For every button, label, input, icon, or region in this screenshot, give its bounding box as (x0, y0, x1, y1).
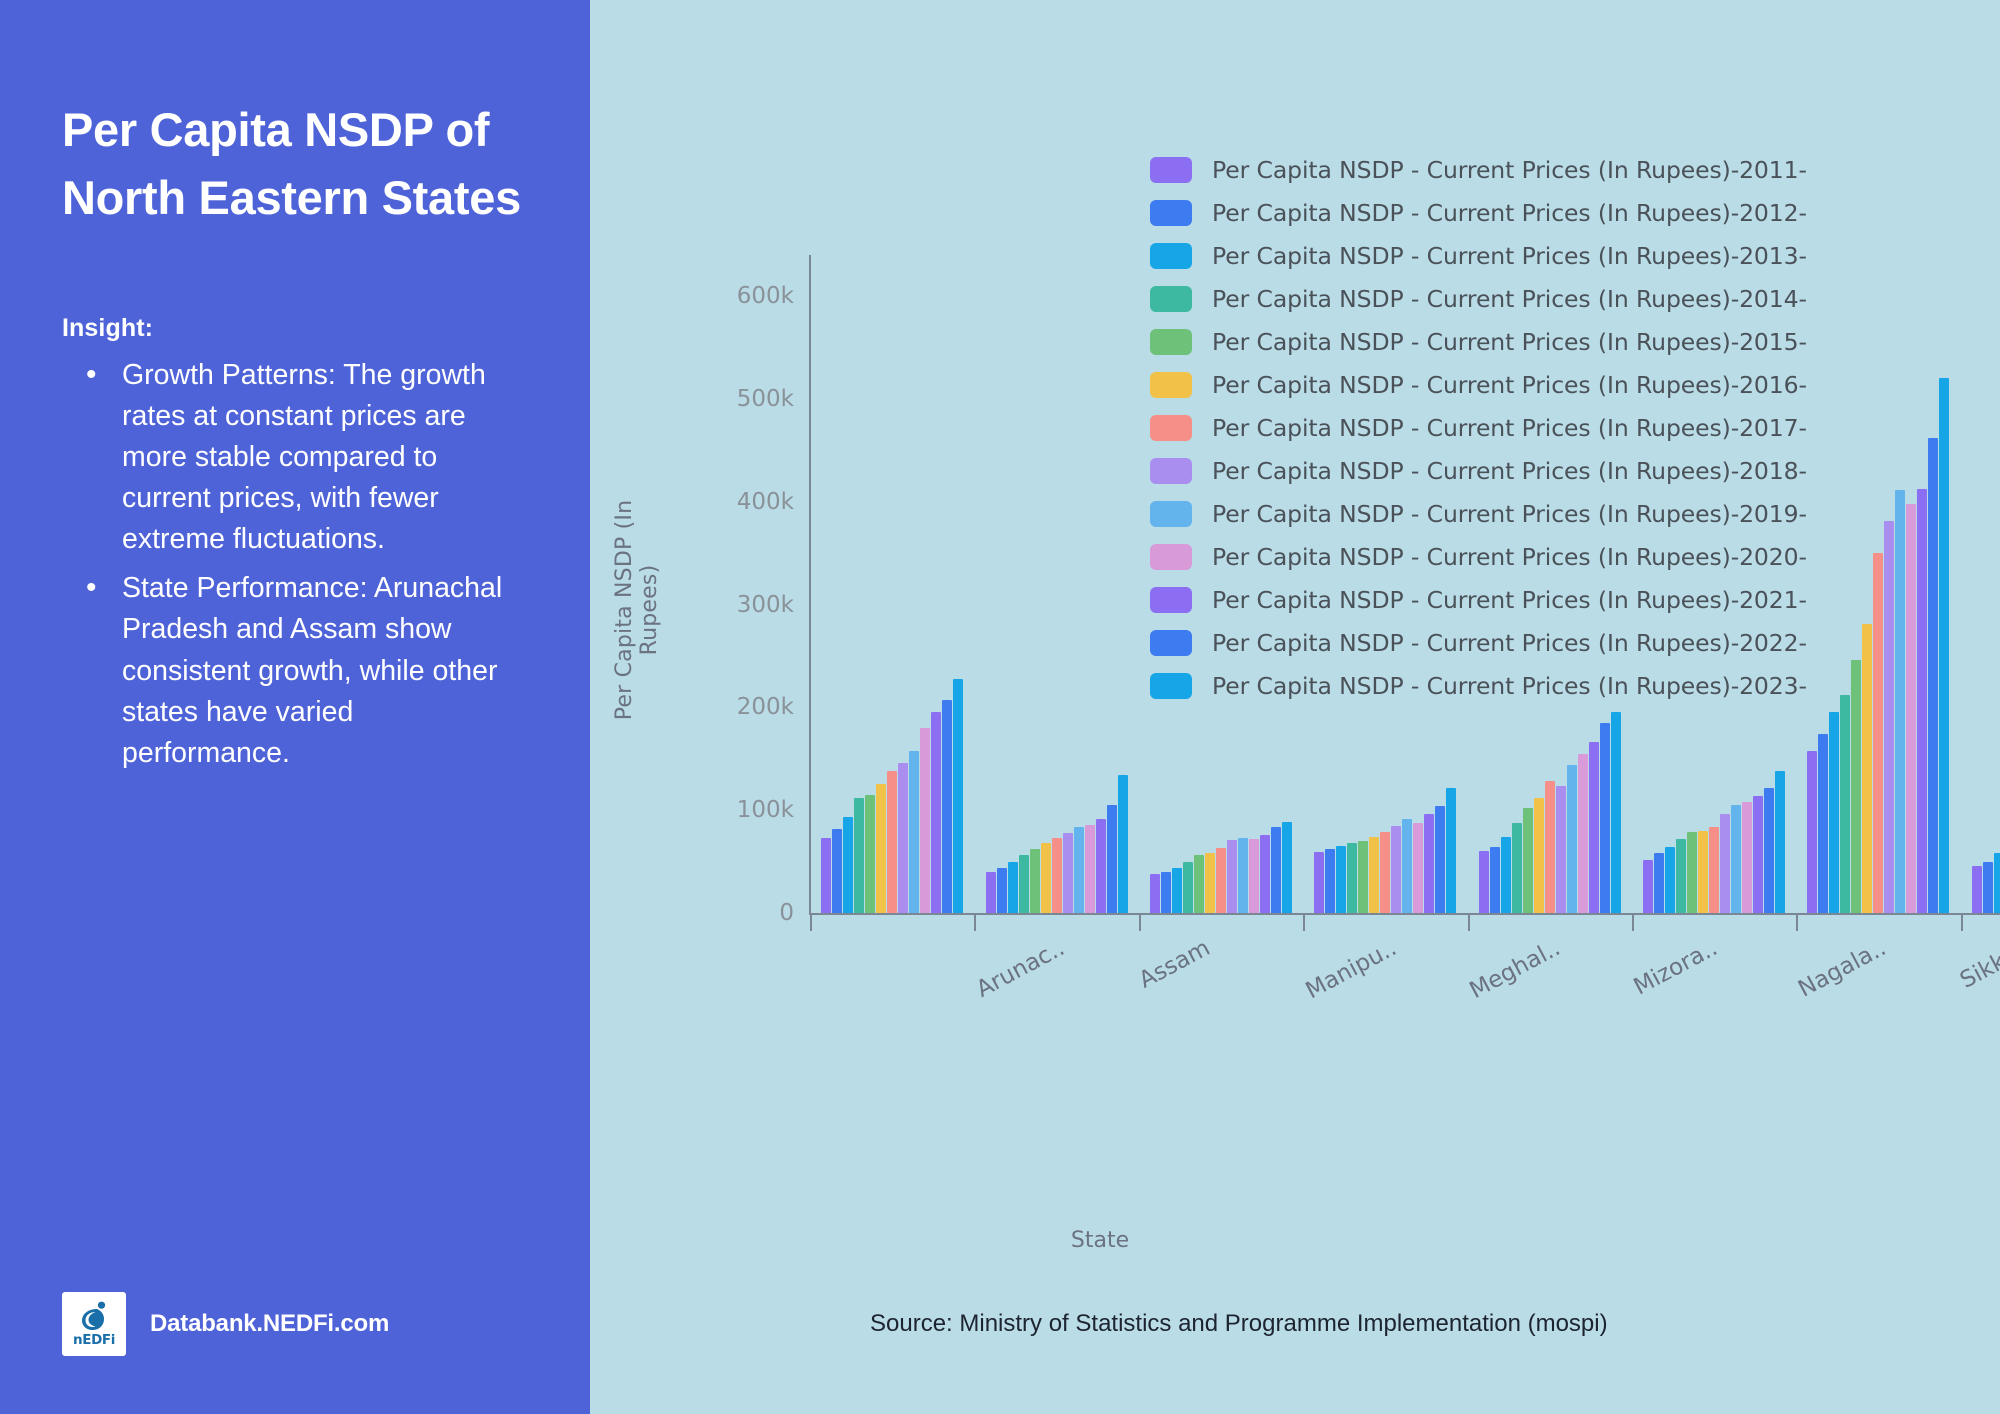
legend-label: Per Capita NSDP - Current Prices (In Rup… (1212, 629, 1807, 657)
bar[interactable] (1578, 754, 1588, 913)
y-tick-label: 100k (737, 797, 794, 823)
legend-item[interactable]: Per Capita NSDP - Current Prices (In Rup… (1150, 191, 1807, 234)
bar[interactable] (1150, 874, 1160, 913)
bar[interactable] (1643, 860, 1653, 913)
bar[interactable] (1118, 775, 1128, 913)
legend-item[interactable]: Per Capita NSDP - Current Prices (In Rup… (1150, 578, 1807, 621)
bar[interactable] (1512, 823, 1522, 913)
bar[interactable] (1567, 765, 1577, 913)
legend-label: Per Capita NSDP - Current Prices (In Rup… (1212, 285, 1807, 313)
bar[interactable] (1096, 819, 1106, 913)
bar[interactable] (1665, 847, 1675, 913)
bar[interactable] (1709, 827, 1719, 913)
bar[interactable] (1435, 806, 1445, 913)
legend-item[interactable]: Per Capita NSDP - Current Prices (In Rup… (1150, 148, 1807, 191)
bar[interactable] (1391, 826, 1401, 913)
bar[interactable] (1369, 837, 1379, 913)
legend-item[interactable]: Per Capita NSDP - Current Prices (In Rup… (1150, 320, 1807, 363)
bar[interactable] (1775, 771, 1785, 913)
legend-item[interactable]: Per Capita NSDP - Current Prices (In Rup… (1150, 664, 1807, 707)
bar[interactable] (986, 872, 996, 913)
bar[interactable] (1238, 838, 1248, 913)
bar[interactable] (1654, 853, 1664, 913)
bar[interactable] (1194, 855, 1204, 913)
bar-chart: Per Capita NSDP (In Rupees) State 0100k2… (590, 0, 2000, 1414)
bar[interactable] (1347, 843, 1357, 913)
bar[interactable] (1829, 712, 1839, 914)
bar[interactable] (1490, 847, 1500, 913)
x-tick-mark (1139, 913, 1141, 931)
legend-label: Per Capita NSDP - Current Prices (In Rup… (1212, 414, 1807, 442)
x-tick-label: Sikkim (1956, 935, 2000, 994)
y-tick-label: 400k (737, 489, 794, 515)
nedfi-logo: nEDFi (62, 1292, 126, 1356)
chart-legend: Per Capita NSDP - Current Prices (In Rup… (1150, 148, 1807, 707)
legend-swatch (1150, 501, 1192, 527)
bar[interactable] (1205, 853, 1215, 913)
bar[interactable] (1019, 855, 1029, 913)
bar[interactable] (1807, 751, 1817, 913)
bar[interactable] (1895, 490, 1905, 913)
bar[interactable] (865, 795, 875, 913)
bar[interactable] (821, 838, 831, 913)
bar[interactable] (1501, 837, 1511, 913)
bar[interactable] (1402, 819, 1412, 913)
x-tick-label: Manipu.. (1302, 935, 1401, 1004)
page-title: Per Capita NSDP of North Eastern States (62, 96, 532, 232)
list-item: Growth Patterns: The growth rates at con… (62, 355, 512, 560)
chart-panel: Per Capita NSDP (In Rupees) State 0100k2… (590, 0, 2000, 1414)
bar[interactable] (1687, 832, 1697, 913)
x-tick-mark (1632, 913, 1634, 931)
x-axis-title: State (970, 1228, 1230, 1253)
infographic-page: Per Capita NSDP of North Eastern States … (0, 0, 2000, 1414)
bar[interactable] (1556, 786, 1566, 913)
x-axis-line (809, 913, 2000, 915)
bar[interactable] (1085, 825, 1095, 913)
legend-label: Per Capita NSDP - Current Prices (In Rup… (1212, 500, 1807, 528)
bar[interactable] (1183, 862, 1193, 913)
bar[interactable] (843, 817, 853, 913)
legend-label: Per Capita NSDP - Current Prices (In Rup… (1212, 371, 1807, 399)
bar[interactable] (931, 712, 941, 914)
y-tick-label: 0 (779, 900, 794, 926)
x-tick-mark (810, 913, 812, 931)
bar[interactable] (1600, 723, 1610, 913)
legend-swatch (1150, 329, 1192, 355)
bar[interactable] (1873, 553, 1883, 913)
x-tick-label: Arunac.. (972, 935, 1069, 1003)
x-tick-label: Mizora.. (1629, 935, 1721, 1000)
source-note: Source: Ministry of Statistics and Progr… (870, 1310, 1608, 1338)
bar[interactable] (1052, 838, 1062, 913)
bar[interactable] (1972, 866, 1982, 913)
x-tick-mark (1796, 913, 1798, 931)
bar[interactable] (1336, 846, 1346, 913)
bar-cluster (810, 255, 974, 913)
bar[interactable] (1884, 521, 1894, 913)
bar[interactable] (1840, 695, 1850, 913)
bar[interactable] (953, 679, 963, 913)
legend-item[interactable]: Per Capita NSDP - Current Prices (In Rup… (1150, 277, 1807, 320)
legend-label: Per Capita NSDP - Current Prices (In Rup… (1212, 457, 1807, 485)
x-tick-label: Assam (1135, 935, 1214, 994)
legend-item[interactable]: Per Capita NSDP - Current Prices (In Rup… (1150, 363, 1807, 406)
y-tick-label: 200k (737, 694, 794, 720)
databank-url[interactable]: Databank.NEDFi.com (150, 1310, 389, 1338)
bar[interactable] (1041, 843, 1051, 913)
y-tick-label: 600k (737, 283, 794, 309)
legend-swatch (1150, 372, 1192, 398)
bar[interactable] (1424, 814, 1434, 913)
bar-cluster (1961, 255, 2000, 913)
bar[interactable] (1446, 788, 1456, 913)
bar[interactable] (832, 829, 842, 913)
bar[interactable] (997, 868, 1007, 913)
bar[interactable] (920, 728, 930, 913)
legend-label: Per Capita NSDP - Current Prices (In Rup… (1212, 156, 1807, 184)
bar-cluster (974, 255, 1138, 913)
legend-swatch (1150, 286, 1192, 312)
bar[interactable] (1862, 624, 1872, 913)
bar[interactable] (1074, 827, 1084, 913)
legend-swatch (1150, 243, 1192, 269)
bar[interactable] (1928, 438, 1938, 913)
legend-item[interactable]: Per Capita NSDP - Current Prices (In Rup… (1150, 234, 1807, 277)
bar[interactable] (1611, 712, 1621, 914)
insight-list: Growth Patterns: The growth rates at con… (62, 355, 532, 773)
x-tick-mark (974, 913, 976, 931)
x-tick-mark (1961, 913, 1963, 931)
bar[interactable] (1227, 840, 1237, 913)
bar[interactable] (1413, 823, 1423, 913)
bar[interactable] (1742, 802, 1752, 913)
brand-footer[interactable]: nEDFi Databank.NEDFi.com (62, 1292, 389, 1356)
legend-item[interactable]: Per Capita NSDP - Current Prices (In Rup… (1150, 621, 1807, 664)
x-tick-label: Meghal.. (1466, 935, 1565, 1004)
bar[interactable] (1764, 788, 1774, 913)
bar[interactable] (1063, 833, 1073, 913)
bar[interactable] (1325, 849, 1335, 913)
bar[interactable] (854, 798, 864, 913)
bar[interactable] (1698, 831, 1708, 913)
nedfi-logo-wordmark: nEDFi (73, 1334, 115, 1348)
bar[interactable] (1545, 781, 1555, 913)
bar[interactable] (1172, 868, 1182, 913)
bar[interactable] (1216, 848, 1226, 913)
x-tick-mark (1303, 913, 1305, 931)
bar[interactable] (1260, 835, 1270, 913)
bar[interactable] (1282, 822, 1292, 914)
bar[interactable] (1380, 832, 1390, 913)
bar[interactable] (887, 771, 897, 913)
bar[interactable] (1851, 660, 1861, 913)
bar[interactable] (909, 751, 919, 913)
legend-swatch (1150, 587, 1192, 613)
bar[interactable] (1008, 862, 1018, 913)
x-tick-label: Nagala.. (1794, 935, 1890, 1003)
legend-label: Per Capita NSDP - Current Prices (In Rup… (1212, 543, 1807, 571)
y-axis-title: Per Capita NSDP (In Rupees) (612, 460, 662, 760)
legend-label: Per Capita NSDP - Current Prices (In Rup… (1212, 242, 1807, 270)
bar[interactable] (1534, 798, 1544, 913)
bar[interactable] (1523, 808, 1533, 913)
legend-swatch (1150, 544, 1192, 570)
bar[interactable] (1358, 841, 1368, 913)
bar[interactable] (1271, 827, 1281, 913)
bar[interactable] (1753, 796, 1763, 913)
bar[interactable] (1479, 851, 1489, 913)
bar[interactable] (1314, 852, 1324, 913)
legend-label: Per Capita NSDP - Current Prices (In Rup… (1212, 199, 1807, 227)
bar[interactable] (1994, 853, 2000, 913)
y-tick-label: 500k (737, 386, 794, 412)
nedfi-logo-icon (77, 1301, 111, 1331)
bar[interactable] (1906, 504, 1916, 913)
y-tick-label: 300k (737, 592, 794, 618)
legend-label: Per Capita NSDP - Current Prices (In Rup… (1212, 586, 1807, 614)
bar[interactable] (1676, 839, 1686, 913)
legend-swatch (1150, 458, 1192, 484)
bar[interactable] (876, 784, 886, 913)
bar[interactable] (1983, 862, 1993, 913)
legend-item[interactable]: Per Capita NSDP - Current Prices (In Rup… (1150, 535, 1807, 578)
legend-item[interactable]: Per Capita NSDP - Current Prices (In Rup… (1150, 406, 1807, 449)
x-tick-mark (1468, 913, 1470, 931)
legend-swatch (1150, 415, 1192, 441)
bar[interactable] (1720, 814, 1730, 913)
bar[interactable] (1818, 734, 1828, 913)
legend-label: Per Capita NSDP - Current Prices (In Rup… (1212, 672, 1807, 700)
bar[interactable] (1939, 378, 1949, 913)
bar-cluster (1796, 255, 1960, 913)
list-item: State Performance: Arunachal Pradesh and… (62, 568, 512, 773)
bar[interactable] (1249, 839, 1259, 913)
legend-swatch (1150, 630, 1192, 656)
bar[interactable] (1917, 489, 1927, 913)
legend-swatch (1150, 673, 1192, 699)
bar[interactable] (1589, 742, 1599, 913)
bar[interactable] (1030, 849, 1040, 913)
left-info-panel: Per Capita NSDP of North Eastern States … (0, 0, 590, 1414)
legend-swatch (1150, 157, 1192, 183)
bar[interactable] (1107, 805, 1117, 913)
insight-heading: Insight: (62, 314, 532, 343)
bar[interactable] (942, 700, 952, 913)
legend-item[interactable]: Per Capita NSDP - Current Prices (In Rup… (1150, 449, 1807, 492)
bar[interactable] (1731, 805, 1741, 913)
legend-swatch (1150, 200, 1192, 226)
bar[interactable] (1161, 872, 1171, 913)
legend-item[interactable]: Per Capita NSDP - Current Prices (In Rup… (1150, 492, 1807, 535)
bar[interactable] (898, 763, 908, 913)
legend-label: Per Capita NSDP - Current Prices (In Rup… (1212, 328, 1807, 356)
